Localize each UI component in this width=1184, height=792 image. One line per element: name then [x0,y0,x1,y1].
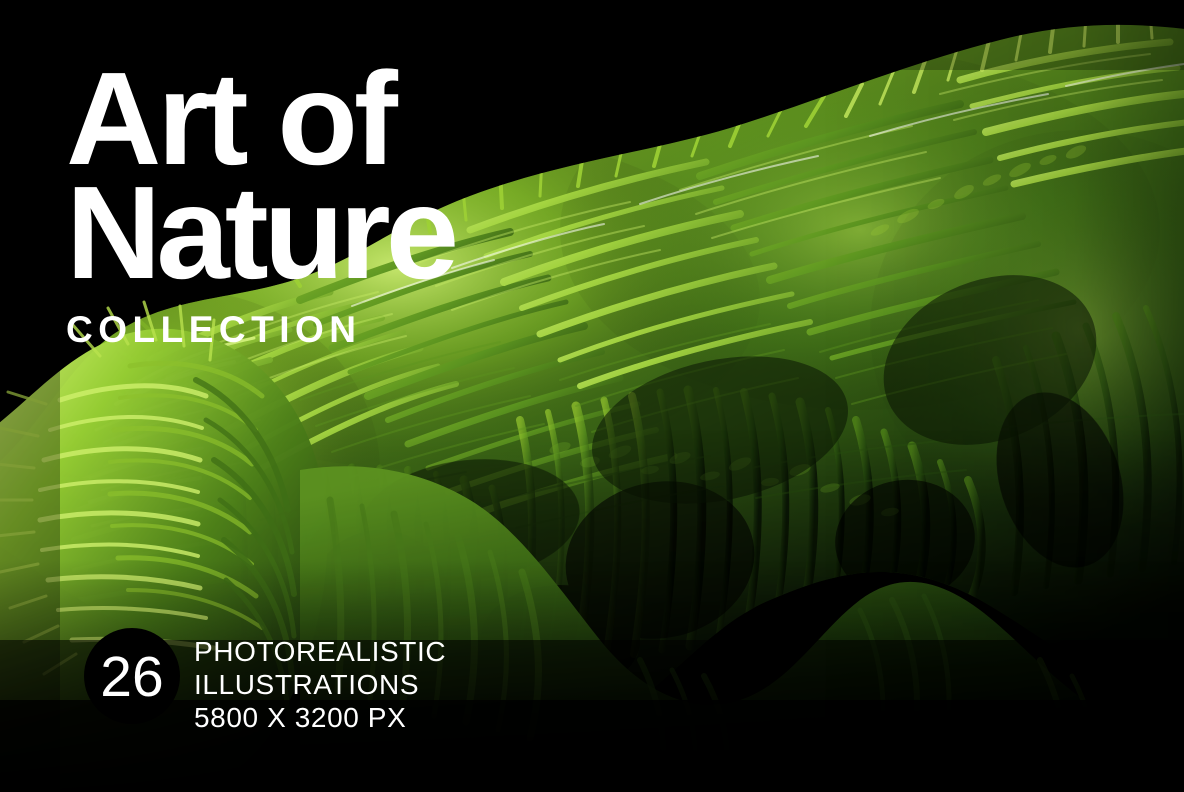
spec-line-photorealistic: PHOTOREALISTIC [194,636,446,669]
count-badge-number: 26 [100,649,163,706]
spec-line-dimensions: 5800 X 3200 PX [194,702,446,735]
poster-canvas: Art of Nature COLLECTION 26 PHOTOREALIST… [0,0,1184,792]
specs-block: PHOTOREALISTIC ILLUSTRATIONS 5800 X 3200… [194,636,446,734]
spec-line-illustrations: ILLUSTRATIONS [194,669,446,702]
count-badge: 26 [84,628,180,724]
title-block: Art of Nature COLLECTION [66,62,454,351]
title-line-2: Nature [66,176,454,290]
